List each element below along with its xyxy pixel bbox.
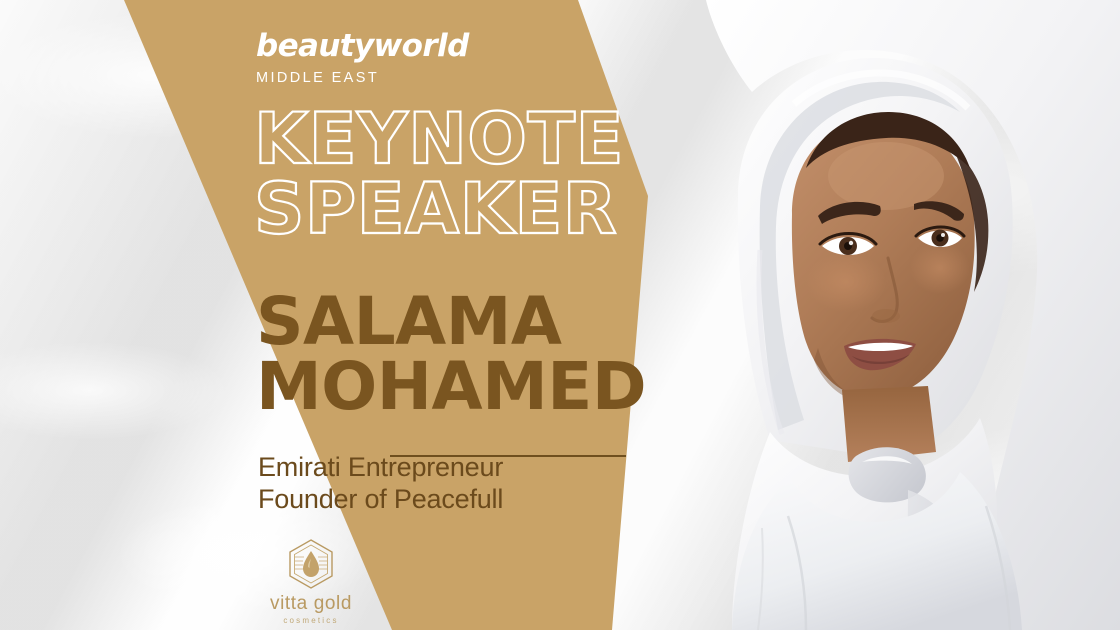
- sponsor-logo: vitta gold cosmetics: [248, 538, 374, 625]
- speaker-name: SALAMA MOHAMED: [256, 288, 776, 421]
- speaker-title-line-1: Emirati Entrepreneur: [258, 452, 678, 484]
- speaker-last-name: MOHAMED: [256, 353, 776, 420]
- logo-region: MIDDLE EAST: [256, 70, 586, 86]
- logo-wordmark: beautyworld: [256, 30, 586, 63]
- content-layer: beautyworld MIDDLE EAST KEYNOTE SPEAKER …: [0, 0, 1120, 630]
- keynote-speaker-banner: beautyworld MIDDLE EAST KEYNOTE SPEAKER …: [0, 0, 1120, 630]
- sponsor-tagline: cosmetics: [248, 617, 374, 625]
- sponsor-name: vitta gold: [248, 594, 374, 613]
- hexagon-droplet-icon: [284, 538, 338, 590]
- headline-line-1: KEYNOTE: [254, 106, 724, 174]
- headline-line-2: SPEAKER: [254, 176, 724, 244]
- headline: KEYNOTE SPEAKER: [254, 106, 724, 244]
- speaker-title: Emirati Entrepreneur Founder of Peaceful…: [258, 452, 678, 516]
- speaker-title-line-2: Founder of Peacefull: [258, 484, 678, 516]
- event-logo: beautyworld MIDDLE EAST: [256, 30, 586, 86]
- speaker-first-name: SALAMA: [256, 288, 776, 355]
